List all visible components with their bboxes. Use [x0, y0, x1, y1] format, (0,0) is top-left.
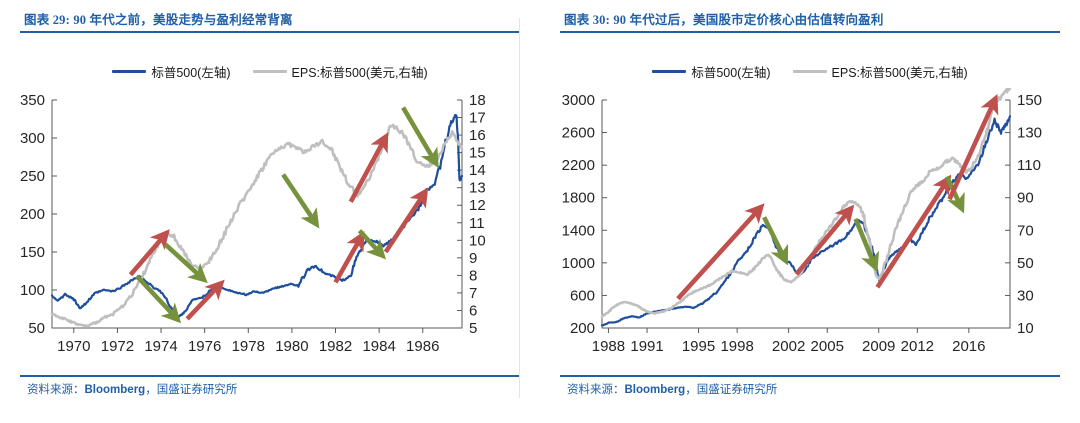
annotation-arrow-down: [283, 174, 314, 220]
source-name-29: Bloomberg: [85, 384, 146, 396]
title-rule-29: [20, 31, 520, 33]
plot-area-29: 5010015020025030035056789101112131415161…: [0, 88, 540, 356]
figure-source-30: 资料来源：Bloomberg，国盛证券研究所: [567, 381, 777, 397]
legend-line-icon-sp500: [112, 70, 146, 73]
legend-item-eps-30: EPS:标普500(美元,右轴): [793, 62, 968, 81]
chart-svg-30: 2006001000140018002200260030001030507090…: [540, 88, 1080, 356]
x-tick-label: 1998: [720, 338, 753, 355]
y-left-tick-label: 2200: [562, 157, 595, 174]
figure-source-29: 资料来源：Bloomberg，国盛证券研究所: [27, 381, 237, 397]
legend-item-sp500-29: 标普500(左轴): [112, 62, 230, 81]
panel-divider: [519, 18, 520, 398]
x-tick-label: 1982: [319, 338, 352, 355]
y-right-tick-label: 10: [1017, 320, 1034, 337]
x-tick-label: 1970: [57, 338, 90, 355]
y-left-tick-label: 50: [28, 320, 45, 337]
y-right-tick-label: 70: [1017, 222, 1034, 239]
series-line-sp500: [602, 116, 1010, 325]
y-right-tick-label: 7: [469, 285, 477, 302]
y-right-tick-label: 90: [1017, 190, 1034, 207]
legend-label-eps-30: EPS:标普500(美元,右轴): [832, 62, 968, 81]
y-right-tick-label: 16: [469, 127, 486, 144]
x-tick-label: 1972: [101, 338, 134, 355]
plot-frame: [602, 100, 1010, 328]
y-right-tick-label: 14: [469, 162, 486, 179]
legend-item-sp500-30: 标普500(左轴): [652, 62, 770, 81]
y-right-tick-label: 110: [1017, 157, 1041, 174]
x-tick-label: 2012: [901, 338, 934, 355]
annotation-arrow-up: [351, 141, 384, 202]
annotation-arrow-down: [137, 276, 174, 316]
x-tick-label: 1978: [232, 338, 265, 355]
y-right-tick-label: 9: [469, 250, 477, 267]
series-line-sp500: [52, 115, 462, 317]
y-left-tick-label: 1000: [562, 255, 595, 272]
source-suffix-29: ，国盛证券研究所: [145, 384, 237, 396]
annotation-arrow-up: [877, 183, 945, 287]
series-line-eps: [602, 88, 1010, 317]
x-tick-label: 2005: [811, 338, 844, 355]
legend-line-icon-eps: [253, 70, 287, 73]
annotation-arrow-up: [950, 103, 994, 199]
x-tick-label: 2009: [862, 338, 895, 355]
legend-label-sp500-30: 标普500(左轴): [691, 62, 770, 81]
legend-label-eps-29: EPS:标普500(美元,右轴): [292, 62, 428, 81]
y-right-tick-label: 30: [1017, 287, 1034, 304]
y-right-tick-label: 12: [469, 197, 486, 214]
legend-line-icon-eps: [793, 70, 827, 73]
y-right-tick-label: 5: [469, 320, 477, 337]
y-right-tick-label: 50: [1017, 255, 1034, 272]
chart-svg-29: 5010015020025030035056789101112131415161…: [0, 88, 540, 356]
y-right-tick-label: 8: [469, 267, 477, 284]
x-tick-label: 1986: [406, 338, 439, 355]
x-tick-label: 1976: [188, 338, 221, 355]
annotation-arrow-down: [764, 217, 783, 256]
y-right-tick-label: 17: [469, 110, 486, 127]
source-prefix-29: 资料来源：: [27, 384, 85, 396]
x-tick-label: 1974: [144, 338, 177, 355]
figure-pair-page: 图表 29: 90 年代之前，美股走势与盈利经常背离 标普500(左轴) EPS…: [0, 0, 1080, 423]
y-left-tick-label: 1800: [562, 190, 595, 207]
y-left-tick-label: 3000: [562, 92, 595, 109]
annotation-arrow-up: [386, 196, 423, 252]
plot-area-30: 2006001000140018002200260030001030507090…: [540, 88, 1080, 356]
y-left-tick-label: 2600: [562, 125, 595, 142]
y-left-tick-label: 100: [20, 282, 45, 299]
title-rule-30: [560, 31, 1060, 33]
annotation-arrow-down: [403, 108, 434, 160]
legend-30: 标普500(左轴) EPS:标普500(美元,右轴): [540, 62, 1080, 81]
legend-item-eps-29: EPS:标普500(美元,右轴): [253, 62, 428, 81]
figure-panel-30: 图表 30: 90 年代过后，美国股市定价核心由估值转向盈利 标普500(左轴)…: [540, 0, 1080, 423]
y-left-tick-label: 200: [570, 320, 595, 337]
legend-29: 标普500(左轴) EPS:标普500(美元,右轴): [0, 62, 540, 81]
y-right-tick-label: 11: [469, 215, 485, 232]
y-left-tick-label: 150: [20, 244, 45, 261]
x-tick-label: 2016: [952, 338, 985, 355]
plot-frame: [52, 100, 462, 328]
figure-title-29: 图表 29: 90 年代之前，美股走势与盈利经常背离: [24, 9, 516, 28]
y-right-tick-label: 10: [469, 232, 486, 249]
y-right-tick-label: 18: [469, 92, 486, 109]
x-tick-label: 1988: [592, 338, 625, 355]
figure-title-30: 图表 30: 90 年代过后，美国股市定价核心由估值转向盈利: [564, 9, 1056, 28]
x-tick-label: 1995: [682, 338, 715, 355]
y-left-tick-label: 300: [20, 130, 45, 147]
legend-label-sp500-29: 标普500(左轴): [151, 62, 230, 81]
source-suffix-30: ，国盛证券研究所: [685, 384, 777, 396]
x-tick-label: 1991: [630, 338, 663, 355]
annotation-arrow-up: [678, 211, 758, 299]
y-left-tick-label: 200: [20, 206, 45, 223]
source-rule-29: [20, 375, 520, 377]
annotation-arrow-up: [796, 212, 847, 274]
y-left-tick-label: 250: [20, 168, 45, 185]
y-left-tick-label: 600: [570, 287, 595, 304]
y-right-tick-label: 15: [469, 145, 486, 162]
x-tick-label: 2002: [772, 338, 805, 355]
y-right-tick-label: 150: [1017, 92, 1042, 109]
y-left-tick-label: 350: [20, 92, 45, 109]
source-prefix-30: 资料来源：: [567, 384, 625, 396]
y-right-tick-label: 6: [469, 302, 477, 319]
x-tick-label: 1980: [275, 338, 308, 355]
figure-panel-29: 图表 29: 90 年代之前，美股走势与盈利经常背离 标普500(左轴) EPS…: [0, 0, 540, 423]
y-right-tick-label: 130: [1017, 125, 1042, 142]
y-right-tick-label: 13: [469, 180, 486, 197]
y-left-tick-label: 1400: [562, 222, 595, 239]
source-rule-30: [560, 375, 1060, 377]
legend-line-icon-sp500: [652, 70, 686, 73]
source-name-30: Bloomberg: [625, 384, 686, 396]
x-tick-label: 1984: [362, 338, 395, 355]
